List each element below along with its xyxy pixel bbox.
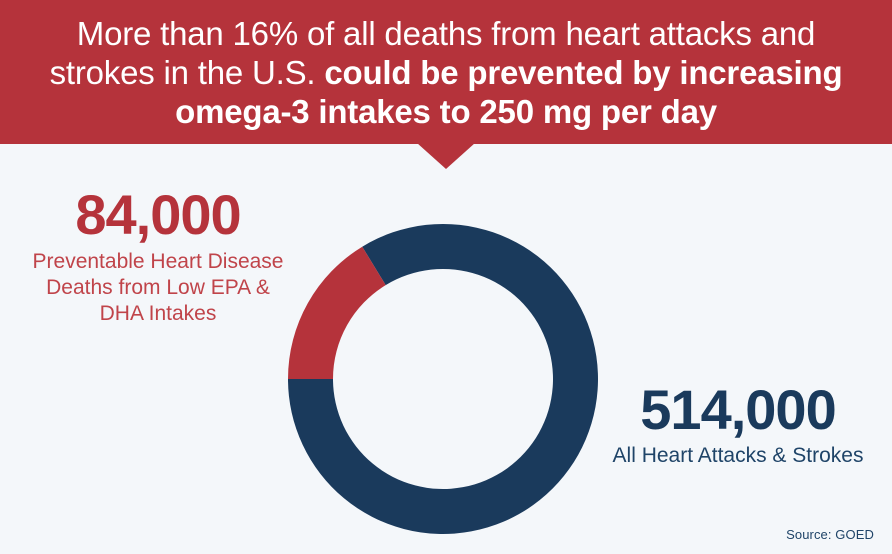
header-line-1: More than 16% of all deaths from heart a… xyxy=(77,14,815,53)
source-label: Source: GOED xyxy=(786,527,874,542)
header-line-2: strokes in the U.S. could be prevented b… xyxy=(50,53,843,92)
header-line-2-bold-text: could be prevented by increasing xyxy=(324,54,842,91)
callout-right-caption: All Heart Attacks & Strokes xyxy=(612,443,864,469)
header-banner: More than 16% of all deaths from heart a… xyxy=(0,0,892,144)
header-pointer-triangle xyxy=(417,143,475,169)
header-line-1-text: More than 16% of all deaths from heart a… xyxy=(77,15,815,52)
donut-segment-preventable-deaths xyxy=(288,247,386,379)
callout-right-value: 514,000 xyxy=(612,381,864,439)
callout-left-value: 84,000 xyxy=(32,186,284,244)
callout-preventable-deaths: 84,000 Preventable Heart Disease Deaths … xyxy=(32,186,284,327)
donut-chart xyxy=(283,219,603,539)
donut-chart-svg xyxy=(283,219,603,539)
header-line-2-light-text: strokes in the U.S. xyxy=(50,54,316,91)
callout-all-heart-attacks: 514,000 All Heart Attacks & Strokes xyxy=(612,381,864,469)
header-line-3: omega-3 intakes to 250 mg per day xyxy=(175,92,717,131)
infographic-canvas: More than 16% of all deaths from heart a… xyxy=(0,0,892,554)
header-line-3-bold-text: omega-3 intakes to 250 mg per day xyxy=(175,93,717,130)
callout-left-caption: Preventable Heart Disease Deaths from Lo… xyxy=(32,249,284,327)
